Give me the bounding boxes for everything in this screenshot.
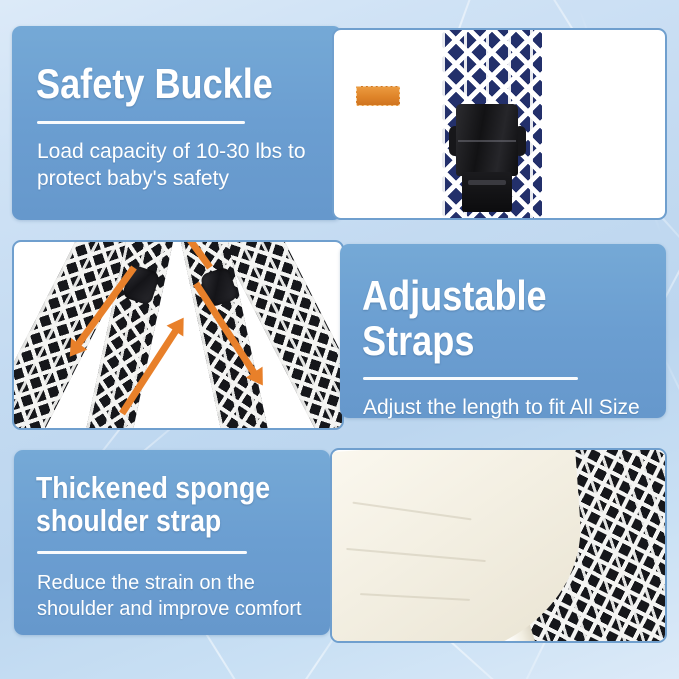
buckle-seam	[458, 140, 516, 142]
product-photo-buckle	[332, 28, 667, 220]
feature-panel-sponge-strap: Thickened sponge shoulder strap Reduce t…	[14, 450, 330, 635]
product-photo-sponge-lining	[330, 448, 667, 643]
buckle-assembly	[442, 30, 542, 218]
heading-divider	[37, 121, 245, 124]
heading-divider	[37, 551, 247, 554]
product-feature-infographic: Safety Buckle Load capacity of 10-30 lbs…	[0, 0, 679, 679]
feature-panel-adjustable-straps: Adjustable Straps Adjust the length to f…	[340, 244, 666, 418]
buckle-slot	[468, 180, 506, 185]
heading-divider	[363, 377, 578, 380]
feature-heading-sponge-strap: Thickened sponge shoulder strap	[36, 472, 289, 538]
product-photo-adjustable-straps	[12, 240, 344, 430]
photo-buckle-scene	[334, 30, 665, 218]
feature-heading-safety-buckle: Safety Buckle	[36, 62, 299, 107]
feature-subtitle-safety-buckle: Load capacity of 10-30 lbs to protect ba…	[37, 138, 327, 193]
feature-heading-adjustable-straps: Adjustable Straps	[362, 274, 623, 363]
orange-leather-tab	[356, 86, 400, 106]
buckle-tongue	[462, 172, 512, 212]
feature-panel-safety-buckle: Safety Buckle Load capacity of 10-30 lbs…	[12, 26, 342, 220]
feature-subtitle-adjustable-straps: Adjust the length to fit All Size	[363, 394, 663, 421]
photo-adjustable-scene	[14, 242, 342, 428]
photo-sponge-scene	[332, 450, 665, 641]
feature-subtitle-sponge-strap: Reduce the strain on the shoulder and im…	[37, 570, 322, 622]
